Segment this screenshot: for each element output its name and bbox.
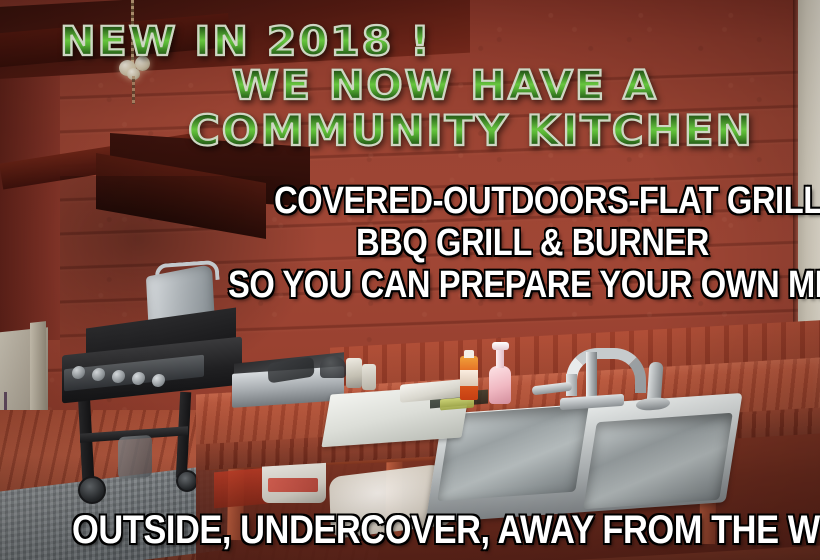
gooseneck-faucet-arc — [566, 348, 646, 393]
grill-wheel — [176, 470, 198, 492]
condiment-shaker — [362, 364, 376, 390]
light-chain-lower — [132, 76, 135, 104]
dish-soap-label — [460, 370, 478, 386]
promo-image: NEW IN 2018 ! WE NOW HAVE A COMMUNITY KI… — [0, 0, 820, 560]
dish-soap-cap — [464, 350, 474, 358]
grill-gas-tank — [118, 435, 152, 479]
left-wall-shadow — [0, 60, 60, 340]
grill-wheel — [78, 476, 106, 504]
light-chain-upper — [131, 0, 134, 64]
pot-lid — [320, 356, 346, 378]
sink-basin-right — [583, 413, 733, 509]
under-counter-red-box — [214, 468, 268, 509]
condiment-shaker — [346, 358, 362, 388]
soap-pump-top — [492, 342, 509, 350]
soap-pump-bottle — [489, 366, 511, 404]
white-jug-label — [268, 478, 318, 492]
background-photo — [0, 0, 820, 560]
soap-pump-neck — [496, 348, 504, 368]
